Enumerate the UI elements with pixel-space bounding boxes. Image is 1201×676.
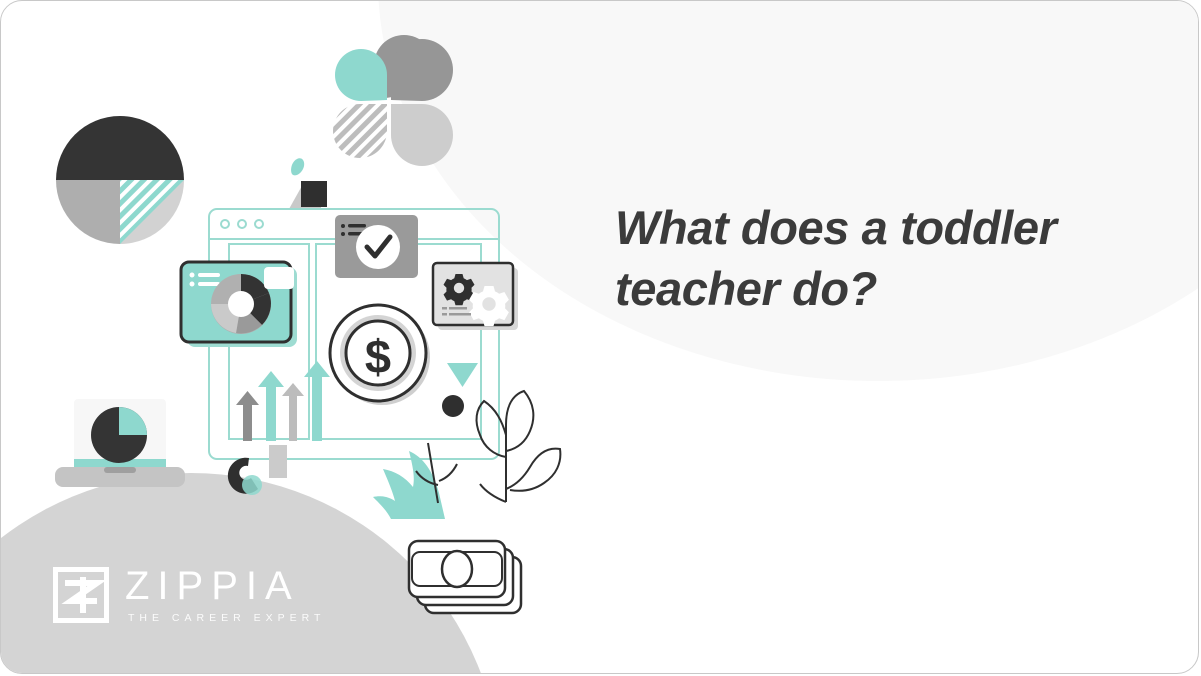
dark-square-small [301, 181, 327, 207]
dollar-coin: $ [330, 305, 430, 405]
gray-card-checkmark [335, 215, 418, 278]
donut-chart [211, 274, 271, 334]
teal-triangle-down [447, 363, 478, 387]
page-title: What does a toddler teacher do? [615, 197, 1155, 319]
plant-leaf-outline [477, 391, 561, 502]
gray-rect-small [269, 445, 287, 478]
svg-text:$: $ [365, 330, 391, 383]
gray-card-gears [433, 263, 518, 330]
zippia-tagline: THE CAREER EXPERT [128, 612, 325, 624]
clover-four-petals [333, 35, 453, 166]
dark-dot [442, 395, 464, 417]
laptop-pie-chart [55, 399, 185, 487]
bar-arrows-chart [236, 361, 330, 441]
teal-leaf-small [291, 158, 304, 175]
tooltip-box [264, 267, 294, 289]
dark-arc-c-shape [228, 458, 262, 495]
teal-card-donut-chart [181, 262, 297, 347]
banknote-stack [409, 541, 521, 613]
pie-chart-large [56, 116, 184, 244]
zippia-wordmark: ZIPPIA [125, 566, 325, 606]
zippia-z-mark [53, 567, 109, 623]
content-card: $ [0, 0, 1199, 674]
check-circle [356, 225, 400, 269]
zippia-logo[interactable]: ZIPPIA THE CAREER EXPERT [53, 566, 325, 624]
plant-leaf-teal [373, 443, 457, 519]
